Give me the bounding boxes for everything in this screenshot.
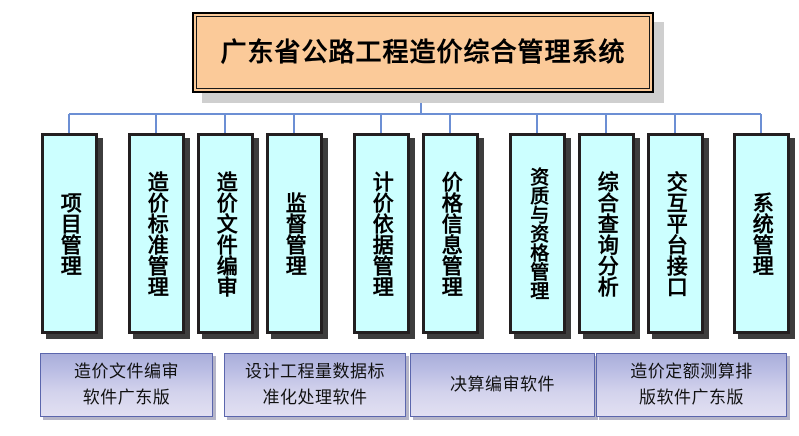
software-label: 设计工程量数据标 准化处理软件 <box>245 359 385 412</box>
module-label: 综合查询分析 <box>596 171 617 297</box>
module-box-interactive-platform-interface[interactable]: 交互平台接口 <box>647 133 704 334</box>
module-box-cost-standard-management[interactable]: 造价标准管理 <box>128 133 185 334</box>
module-label: 项目管理 <box>59 192 80 276</box>
module-label: 系统管理 <box>751 192 772 276</box>
system-title-box: 广东省公路工程造价综合管理系统 <box>192 12 654 93</box>
module-surface[interactable]: 交互平台接口 <box>647 133 704 334</box>
software-label: 造价文件编审 软件广东版 <box>74 359 179 412</box>
module-surface[interactable]: 综合查询分析 <box>578 133 635 334</box>
software-label-line2: 准化处理软件 <box>263 388 368 408</box>
software-label-line2: 版软件广东版 <box>639 388 744 408</box>
module-surface[interactable]: 监督管理 <box>266 133 323 334</box>
module-label: 计价依据管理 <box>371 171 392 297</box>
module-label: 造价标准管理 <box>146 171 167 297</box>
software-box-final-account-review-software[interactable]: 决算编审软件 <box>410 353 595 417</box>
software-box-cost-quota-calculation-typesetting-software[interactable]: 造价定额测算排 版软件广东版 <box>596 353 787 417</box>
module-box-pricing-basis-management[interactable]: 计价依据管理 <box>353 133 410 334</box>
software-box-cost-document-review-software[interactable]: 造价文件编审 软件广东版 <box>40 353 213 417</box>
module-box-price-information-management[interactable]: 价格信息管理 <box>422 133 479 334</box>
module-surface[interactable]: 系统管理 <box>733 133 790 334</box>
software-label-line1: 设计工程量数据标 <box>245 362 385 382</box>
module-box-cost-document-review[interactable]: 造价文件编审 <box>197 133 254 334</box>
software-label-line1: 决算编审软件 <box>450 375 555 395</box>
module-box-qualification-management[interactable]: 资质与资格管理 <box>509 133 566 334</box>
module-box-comprehensive-query-analysis[interactable]: 综合查询分析 <box>578 133 635 334</box>
org-chart-diagram: 广东省公路工程造价综合管理系统 项目管理 造价标准管理 造价文件编审 监督管理 … <box>0 0 799 436</box>
module-box-supervision-management[interactable]: 监督管理 <box>266 133 323 334</box>
software-label-line2: 软件广东版 <box>83 388 171 408</box>
module-box-project-management[interactable]: 项目管理 <box>41 133 98 334</box>
software-label: 决算编审软件 <box>450 372 555 398</box>
module-label: 价格信息管理 <box>440 171 461 297</box>
module-label: 资质与资格管理 <box>528 167 547 300</box>
software-label-line1: 造价文件编审 <box>74 362 179 382</box>
module-surface[interactable]: 造价标准管理 <box>128 133 185 334</box>
module-label: 交互平台接口 <box>665 171 686 297</box>
module-box-system-management[interactable]: 系统管理 <box>733 133 790 334</box>
page-title: 广东省公路工程造价综合管理系统 <box>220 40 625 66</box>
module-label: 造价文件编审 <box>215 171 236 297</box>
module-surface[interactable]: 资质与资格管理 <box>509 133 566 334</box>
module-surface[interactable]: 造价文件编审 <box>197 133 254 334</box>
software-label: 造价定额测算排 版软件广东版 <box>630 359 753 412</box>
module-surface[interactable]: 项目管理 <box>41 133 98 334</box>
software-box-design-quantity-standardization-software[interactable]: 设计工程量数据标 准化处理软件 <box>224 353 406 417</box>
module-surface[interactable]: 价格信息管理 <box>422 133 479 334</box>
module-surface[interactable]: 计价依据管理 <box>353 133 410 334</box>
module-label: 监督管理 <box>284 192 305 276</box>
software-label-line1: 造价定额测算排 <box>630 362 753 382</box>
